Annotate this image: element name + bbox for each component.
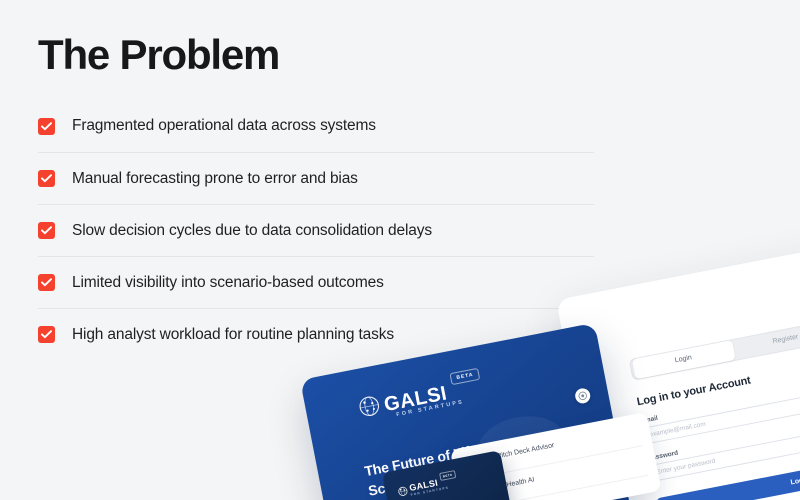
divider <box>472 475 649 500</box>
brand-wordmark: GALSI <box>383 384 449 414</box>
password-placeholder: Enter your password <box>656 458 716 476</box>
login-tab-group[interactable]: Login Register <box>629 319 800 381</box>
hero-tagline-line1: The Future of Life <box>363 442 479 480</box>
checkbox-checked-icon[interactable] <box>38 118 55 135</box>
tab-login[interactable]: Login <box>631 340 735 379</box>
galsi-logo-small: GALSI <box>396 477 438 495</box>
globe-icon <box>396 483 408 495</box>
list-item-label: Limited visibility into scenario-based o… <box>72 274 384 292</box>
hero-tagline-line2: Sciences Starts Here <box>367 458 503 500</box>
list-item-label: Galsi Pitch Deck Advisor <box>479 442 555 463</box>
list-item[interactable]: High analyst workload for routine planni… <box>38 308 594 360</box>
beta-badge: BETA <box>439 470 456 481</box>
decorative-blob <box>523 492 581 500</box>
list-item-label: Fragmented operational data across syste… <box>72 117 376 135</box>
divider <box>466 445 643 480</box>
login-heading: Log in to your Account <box>636 374 752 408</box>
email-label: Email <box>640 415 658 425</box>
beta-badge: BETA <box>449 368 480 385</box>
tab-register[interactable]: Register <box>733 320 800 359</box>
mini-brand-card: GALSI FOR STARTUPS BETA <box>382 450 513 500</box>
globe-icon <box>356 393 382 419</box>
list-item[interactable]: Manual forecasting prone to error and bi… <box>38 152 594 204</box>
checkbox-checked-icon[interactable] <box>38 326 55 343</box>
decorative-blob <box>455 476 504 500</box>
list-item-label: High analyst workload for routine planni… <box>72 326 394 344</box>
list-item[interactable]: Fragmented operational data across syste… <box>38 100 594 152</box>
galsi-logo: GALSI <box>356 380 448 419</box>
slide-canvas: The Problem Fragmented operational data … <box>0 0 800 500</box>
checkbox-checked-icon[interactable] <box>38 274 55 291</box>
login-submit-button[interactable]: Login <box>656 443 800 500</box>
password-field[interactable] <box>649 410 800 482</box>
list-item-label: Slow decision cycles due to data consoli… <box>72 222 432 240</box>
app-icon <box>466 458 473 465</box>
password-label: Password <box>647 450 678 463</box>
brand-wordmark: GALSI <box>409 479 439 492</box>
checkbox-checked-icon[interactable] <box>38 170 55 187</box>
agent-list-card: Galsi Pitch Deck Advisor Clarity Health … <box>450 412 662 500</box>
list-item-label: Manual forecasting prone to error and bi… <box>72 170 358 188</box>
list-item[interactable]: Slow decision cycles due to data consoli… <box>38 204 594 256</box>
checkbox-checked-icon[interactable] <box>38 222 55 239</box>
brand-subtitle: FOR STARTUPS <box>410 486 449 497</box>
email-field[interactable] <box>642 373 800 445</box>
brand-subtitle: FOR STARTUPS <box>396 399 465 418</box>
verified-badge-icon[interactable] <box>574 387 592 405</box>
app-icon <box>472 488 479 495</box>
email-placeholder: example@mail.com <box>649 421 706 439</box>
list-item-label: Clarity Health AI <box>485 477 536 493</box>
hero-tagline: The Future of Life Sciences Starts Here <box>363 421 582 500</box>
problem-list: Fragmented operational data across syste… <box>38 100 594 360</box>
list-item[interactable]: Galsi Pitch Deck Advisor <box>466 442 555 466</box>
decorative-blob <box>472 409 572 485</box>
list-item[interactable]: Limited visibility into scenario-based o… <box>38 256 594 308</box>
list-item[interactable]: Clarity Health AI <box>472 477 535 496</box>
decorative-blob <box>555 441 622 494</box>
page-title: The Problem <box>38 32 279 78</box>
